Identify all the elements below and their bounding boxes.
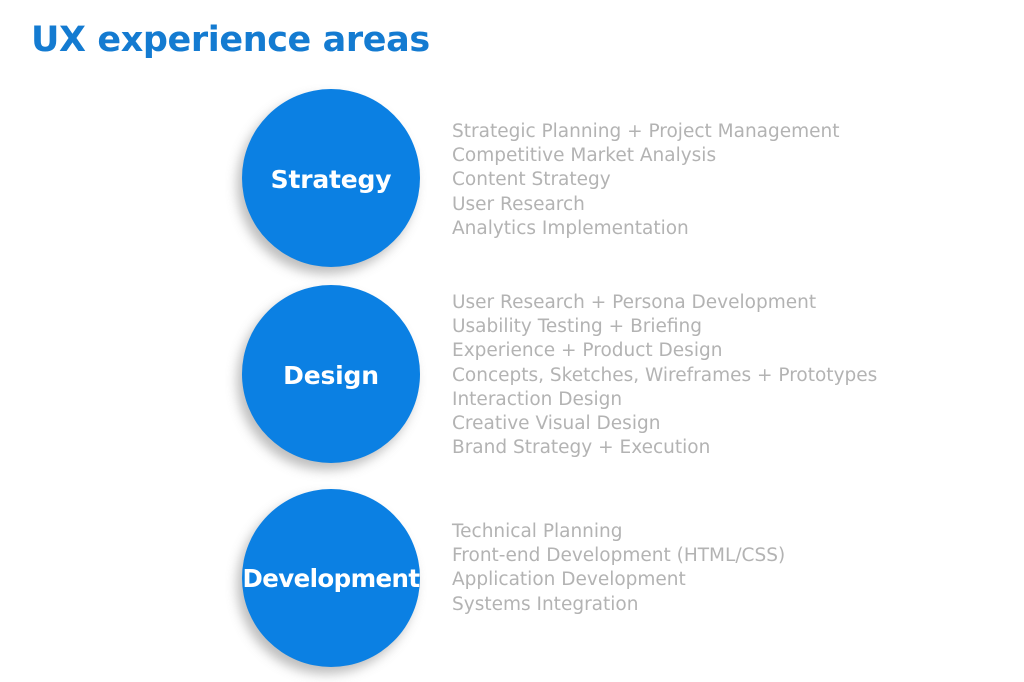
list-item: User Research [452,193,840,217]
list-item: Brand Strategy + Execution [452,436,877,460]
list-item: Technical Planning [452,520,785,544]
slide-canvas: UX experience areas Strategy Strategic P… [0,0,1024,682]
list-item: Content Strategy [452,168,840,192]
area-circle-label-design: Design [283,363,379,388]
area-list-strategy: Strategic Planning + Project Management … [452,120,840,241]
list-item: Competitive Market Analysis [452,144,840,168]
list-item: Strategic Planning + Project Management [452,120,840,144]
area-list-development: Technical Planning Front-end Development… [452,520,785,617]
list-item: Systems Integration [452,593,785,617]
area-list-design: User Research + Persona Development Usab… [452,291,877,460]
list-item: User Research + Persona Development [452,291,877,315]
list-item: Creative Visual Design [452,412,877,436]
list-item: Analytics Implementation [452,217,840,241]
area-circle-design[interactable]: Design [242,285,420,463]
area-circle-strategy[interactable]: Strategy [242,89,420,267]
area-circle-label-strategy: Strategy [271,167,392,192]
list-item: Experience + Product Design [452,339,877,363]
area-circle-development[interactable]: Development [242,489,420,667]
area-circle-label-development: Development [242,567,419,592]
list-item: Concepts, Sketches, Wireframes + Prototy… [452,364,877,388]
list-item: Application Development [452,568,785,592]
page-title: UX experience areas [31,21,430,60]
list-item: Front-end Development (HTML/CSS) [452,544,785,568]
list-item: Usability Testing + Briefing [452,315,877,339]
list-item: Interaction Design [452,388,877,412]
